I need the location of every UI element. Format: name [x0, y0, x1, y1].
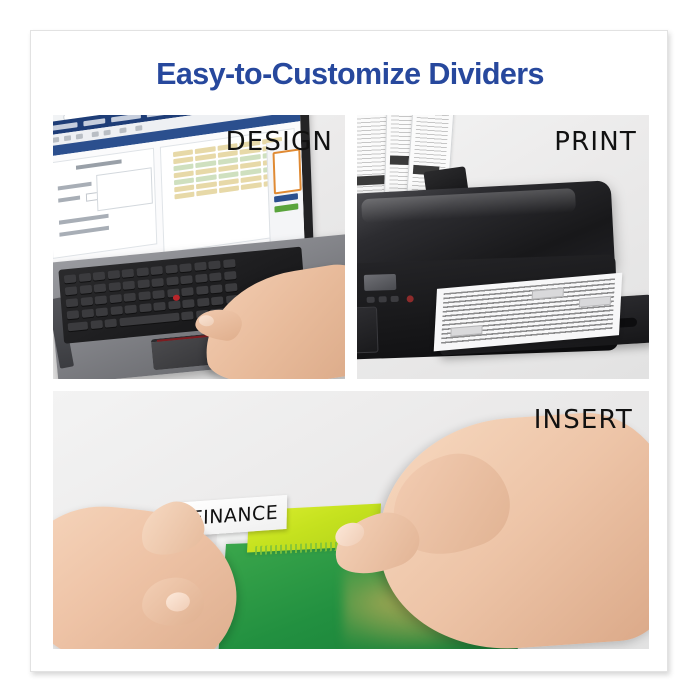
product-infographic: Easy-to-Customize Dividers — [0, 0, 700, 700]
panel-design: DESIGN — [53, 115, 345, 379]
panel-label-insert: INSERT — [534, 405, 633, 435]
panel-label-print: PRINT — [554, 127, 637, 157]
printed-label-text: FINANCE — [192, 502, 279, 530]
right-hand — [371, 407, 649, 649]
app-form-panel — [53, 148, 157, 259]
page-title: Easy-to-Customize Dividers — [31, 57, 668, 92]
printer-button[interactable] — [391, 296, 399, 302]
product-card: Easy-to-Customize Dividers — [30, 30, 668, 672]
printer-cartridge-door[interactable] — [357, 307, 379, 354]
printer-button[interactable] — [379, 296, 387, 302]
panel-label-design: DESIGN — [226, 127, 333, 157]
printer-button[interactable] — [367, 297, 375, 303]
printer-display — [364, 274, 397, 291]
panel-print: PRINT — [357, 115, 649, 379]
printer-power-button[interactable] — [407, 295, 414, 302]
panel-insert: FINANCE INSERT — [53, 391, 649, 649]
